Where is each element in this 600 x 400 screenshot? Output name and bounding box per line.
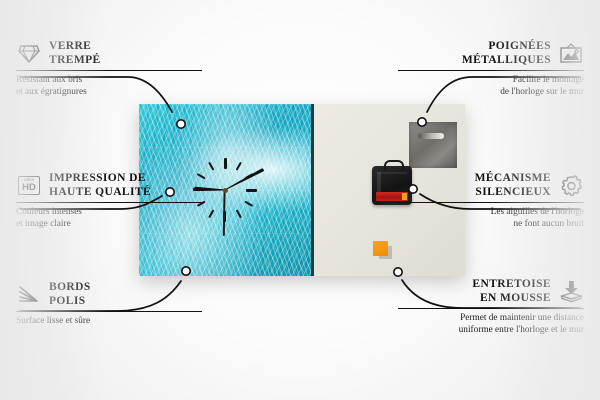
polished-edges-icon: [16, 283, 42, 307]
callout-poignees-metalliques: POIGNÉES MÉTALLIQUES Facilite le montage…: [398, 40, 584, 98]
callout-description: Couleurs intenses et image claire: [16, 207, 202, 230]
callout-rule: [16, 202, 202, 203]
callout-description: Résistant aux bris et aux égratignures: [16, 75, 202, 98]
callout-bords-polis: BORDS POLIS Surface lisse et sûre: [16, 281, 202, 328]
callout-rule: [398, 70, 584, 71]
callout-description: Facilite le montage de l'horloge sur le …: [398, 75, 584, 98]
callout-title: BORDS POLIS: [49, 281, 91, 308]
callout-title: VERRE TREMPÉ: [49, 40, 101, 67]
ultra-hd-large-text: HD: [22, 183, 36, 193]
wire-node-bords: [182, 267, 190, 275]
wire-node-poignees: [418, 118, 426, 126]
callout-entretoise-en-mousse: ENTRETOISE EN MOUSSE Permet de maintenir…: [398, 278, 584, 336]
wire-node-verre: [177, 120, 185, 128]
callout-rule: [16, 70, 202, 71]
infographic-canvas: VERRE TREMPÉ Résistant aux bris et aux é…: [0, 0, 600, 400]
callout-rule: [398, 308, 584, 309]
callout-title: POIGNÉES MÉTALLIQUES: [462, 40, 551, 67]
callout-description: Permet de maintenir une distance uniform…: [398, 313, 584, 336]
callout-rule: [398, 202, 584, 203]
callout-rule: [16, 311, 202, 312]
callout-description: Les aiguilles de l'horloge ne font aucun…: [398, 207, 584, 230]
callout-mecanisme-silencieux: MÉCANISME SILENCIEUX Les aiguilles de l'…: [398, 172, 584, 230]
gear-icon: [558, 174, 584, 198]
ultra-hd-icon: ultra HD: [16, 174, 42, 198]
picture-hanger-icon: [558, 42, 584, 66]
callout-title: IMPRESSION DE HAUTE QUALITÉ: [49, 172, 151, 199]
callout-title: MÉCANISME SILENCIEUX: [475, 172, 551, 199]
callout-impression-haute-qualite: ultra HD IMPRESSION DE HAUTE QUALITÉ Cou…: [16, 172, 202, 230]
foam-spacer-icon: [558, 280, 584, 304]
callout-verre-trempe: VERRE TREMPÉ Résistant aux bris et aux é…: [16, 40, 202, 98]
callout-title: ENTRETOISE EN MOUSSE: [472, 278, 551, 305]
wire-node-entretoise: [394, 268, 402, 276]
diamond-icon: [16, 42, 42, 66]
callout-description: Surface lisse et sûre: [16, 316, 202, 327]
